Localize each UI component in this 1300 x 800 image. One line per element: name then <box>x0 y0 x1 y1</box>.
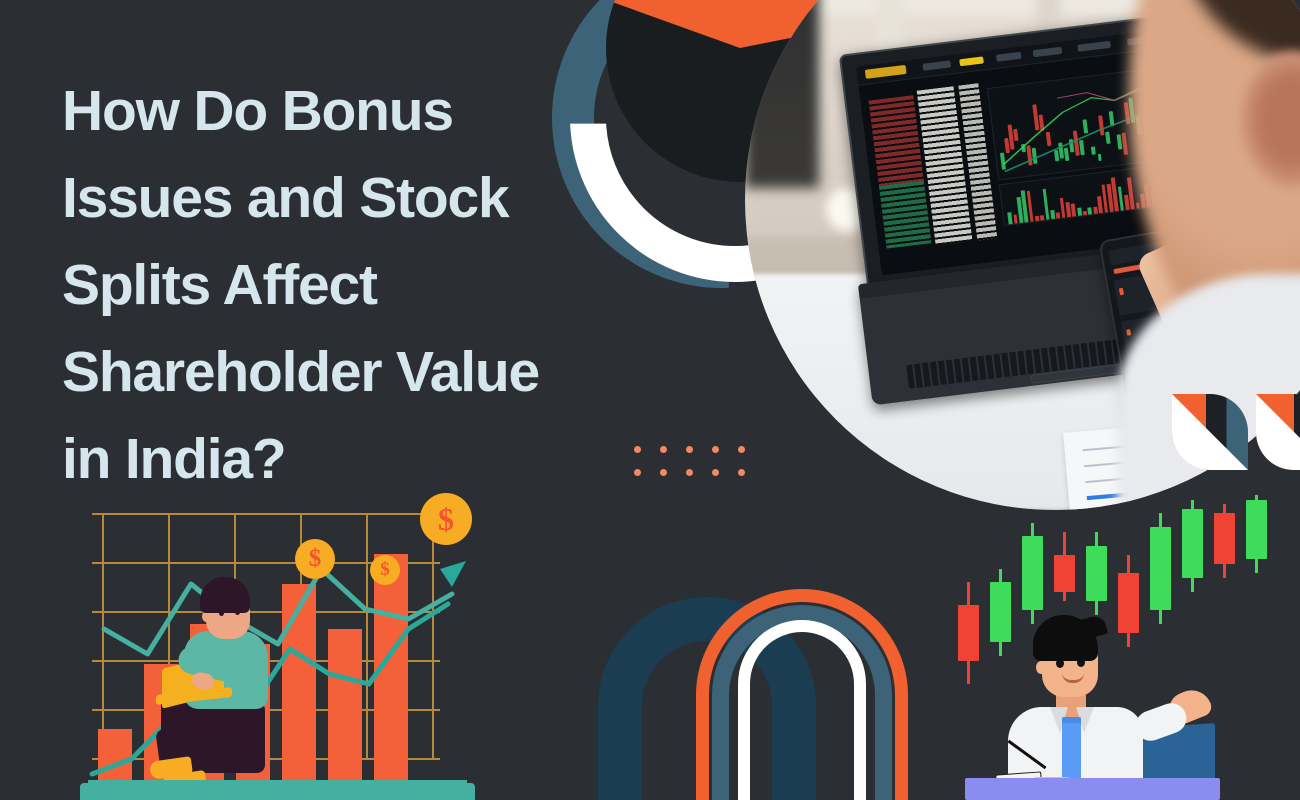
candlestick <box>990 495 1011 725</box>
candle-body <box>1246 500 1267 560</box>
grid-dot <box>738 469 745 476</box>
volume-bar <box>1136 203 1140 210</box>
volume-bar <box>1014 215 1019 224</box>
volume-bar <box>1093 207 1098 215</box>
candle-body <box>1086 546 1107 601</box>
person-with-laptop <box>164 577 289 777</box>
volume-bar <box>1077 208 1082 217</box>
dollar-coin: $ <box>295 539 335 579</box>
grid-dot <box>634 469 641 476</box>
title-line-2: Issues and Stock <box>62 155 682 242</box>
grid-dot <box>634 446 641 453</box>
candlestick <box>1214 495 1235 725</box>
candle-body <box>1150 527 1171 610</box>
candle-body <box>1214 513 1235 564</box>
arch-white <box>738 620 866 800</box>
candlestick <box>1118 495 1139 725</box>
grid-dot <box>660 469 667 476</box>
background-chair <box>745 0 819 188</box>
logo-leaf-icon-2 <box>1256 394 1300 470</box>
volume-bar <box>1041 216 1045 221</box>
grid-dot <box>738 446 745 453</box>
candle-body <box>990 582 1011 642</box>
candlestick <box>1150 495 1171 725</box>
title-line-5: in India? <box>62 416 682 503</box>
title-line-4: Shareholder Value <box>62 329 682 416</box>
candle-body <box>1182 509 1203 578</box>
volume-bar <box>1056 213 1060 219</box>
volume-bar <box>1071 203 1076 217</box>
candlestick-trader-illustration <box>950 495 1300 800</box>
candlestick <box>958 495 979 725</box>
grid-dot <box>660 446 667 453</box>
volume-bar <box>1088 208 1093 215</box>
candlestick <box>1022 495 1043 725</box>
volume-bar <box>1083 211 1087 215</box>
dot-grid-decoration <box>634 446 764 492</box>
candle-body <box>1054 555 1075 592</box>
dollar-coin: $ <box>370 555 400 585</box>
candlestick <box>1246 495 1267 725</box>
growth-bar-chart-illustration: $$$$ <box>80 495 475 800</box>
grid-dot <box>712 446 719 453</box>
candle-body <box>1118 573 1139 633</box>
page-title: How Do Bonus Issues and Stock Splits Aff… <box>62 68 682 503</box>
candle-body <box>1022 536 1043 610</box>
chart-baseline <box>80 783 475 800</box>
logo-leaf-icon <box>1172 394 1248 470</box>
volume-bar <box>1051 211 1056 220</box>
order-book-bids <box>879 181 932 249</box>
person-hair <box>200 577 250 613</box>
grid-dot <box>686 469 693 476</box>
trader-desk <box>965 778 1220 800</box>
banner-canvas: How Do Bonus Issues and Stock Splits Aff… <box>0 0 1300 800</box>
title-line-1: How Do Bonus <box>62 68 682 155</box>
candle-body <box>958 605 979 660</box>
arch-decoration-group <box>590 575 950 800</box>
grid-dot <box>712 469 719 476</box>
title-line-3: Splits Affect <box>62 242 682 329</box>
volume-bar <box>1035 216 1039 222</box>
grid-dot <box>686 446 693 453</box>
